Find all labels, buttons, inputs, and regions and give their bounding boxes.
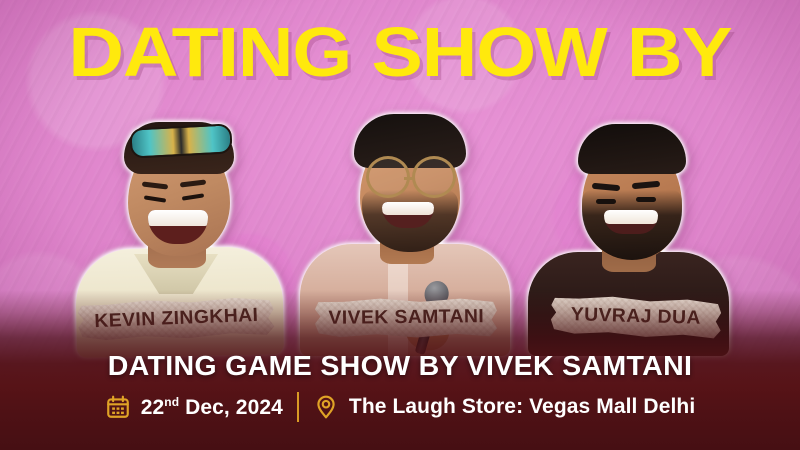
- date-rest: Dec, 2024: [179, 396, 283, 419]
- meta-divider: [297, 392, 299, 422]
- vivek-hair: [354, 114, 466, 168]
- yuvraj-mouth: [604, 210, 658, 234]
- calendar-icon: [105, 394, 131, 420]
- performer-name-label: VIVEK SAMTANI: [328, 306, 484, 330]
- yuvraj-hair: [578, 124, 686, 174]
- event-poster: DATING SHOW BY: [0, 0, 800, 450]
- yuvraj-teeth: [604, 210, 658, 224]
- yuvraj-eye-left: [596, 199, 616, 204]
- date-day: 22: [141, 396, 165, 419]
- event-date: 22nd Dec, 2024: [105, 394, 283, 420]
- poster-headline: DATING SHOW BY: [0, 14, 800, 90]
- yuvraj-eye-right: [636, 197, 656, 202]
- event-title: DATING GAME SHOW BY VIVEK SAMTANI: [0, 350, 800, 382]
- location-pin-icon: [313, 394, 339, 420]
- performer-name-label: YUVRAJ DUA: [571, 304, 702, 330]
- date-ordinal: nd: [164, 395, 179, 409]
- event-date-text: 22nd Dec, 2024: [141, 395, 283, 420]
- name-banner-yuvraj-dua: YUVRAJ DUA: [550, 295, 721, 340]
- sunglasses-icon: [129, 123, 232, 158]
- vivek-teeth: [382, 202, 434, 215]
- eyeglasses-lens-right: [412, 156, 456, 198]
- poster-footer: DATING GAME SHOW BY VIVEK SAMTANI: [0, 346, 800, 450]
- event-venue: The Laugh Store: Vegas Mall Delhi: [313, 394, 695, 420]
- name-banner-vivek-samtani: VIVEK SAMTANI: [315, 297, 497, 339]
- event-venue-text: The Laugh Store: Vegas Mall Delhi: [349, 395, 695, 419]
- event-details-row: 22nd Dec, 2024 The Laugh Store: Vegas Ma…: [0, 392, 800, 422]
- eyeglasses-bridge: [404, 177, 414, 180]
- kevin-teeth: [148, 210, 208, 226]
